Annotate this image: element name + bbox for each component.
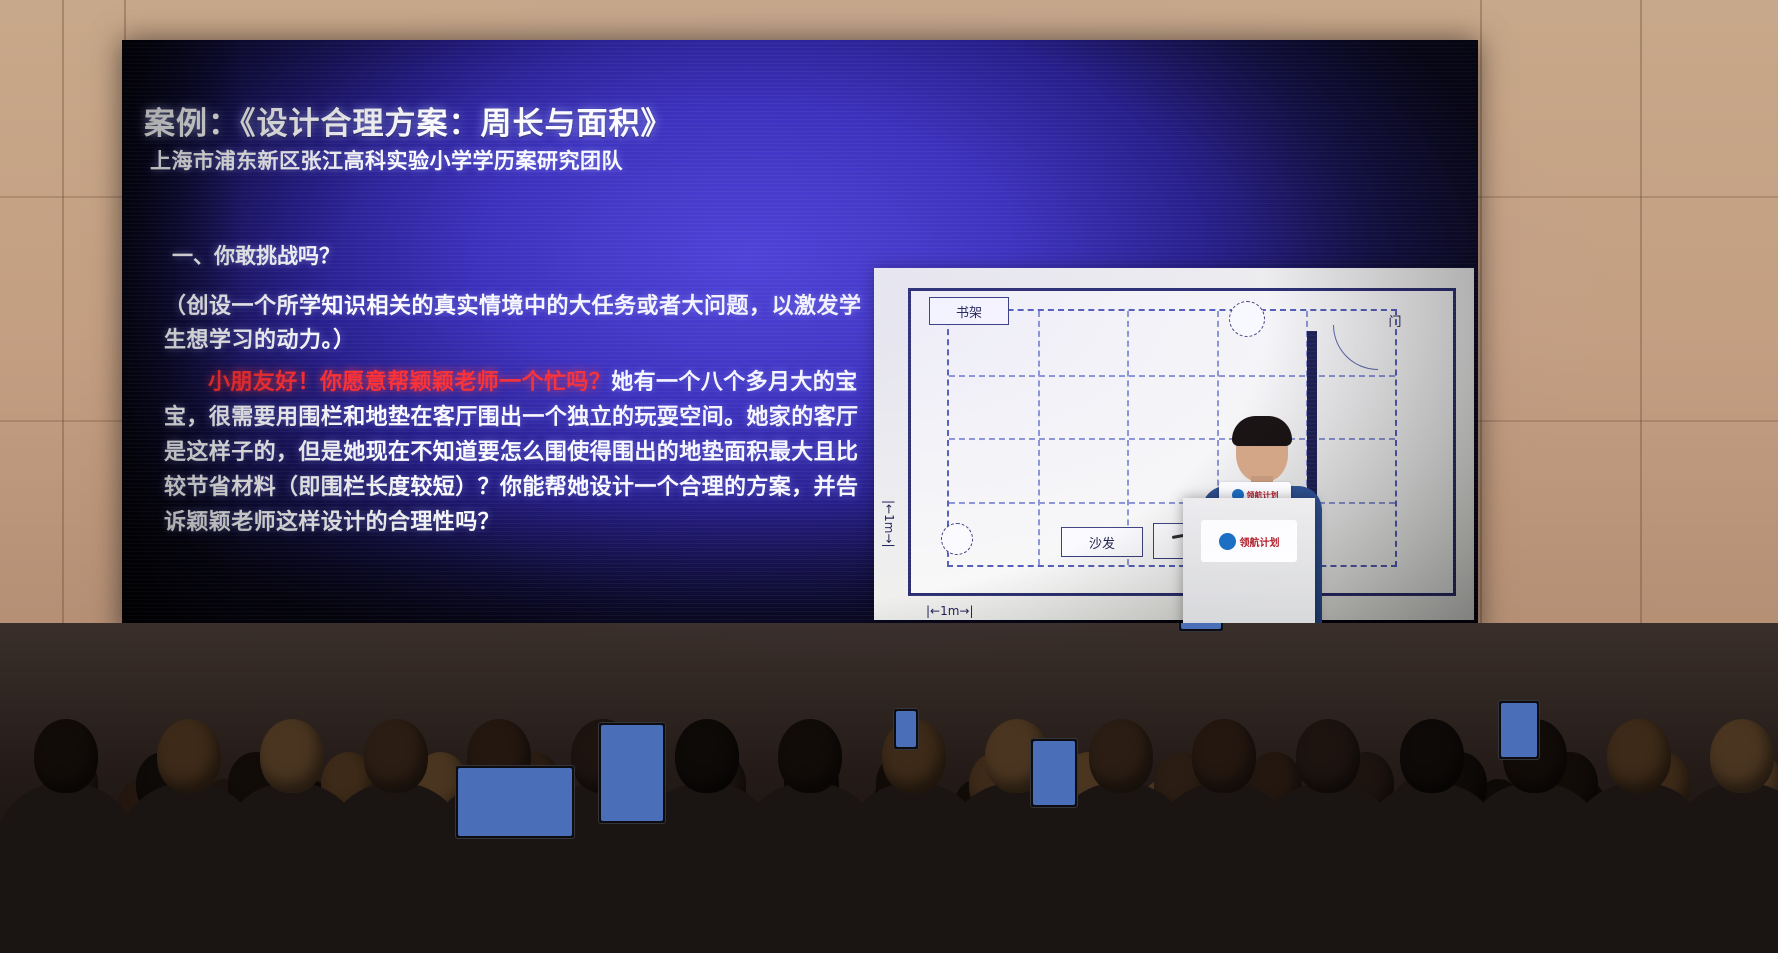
audience-head: [675, 719, 739, 793]
audience-head: [157, 719, 221, 793]
audience-head: [778, 719, 842, 793]
audience-foreground: [0, 623, 1778, 953]
speaker-hair: [1232, 416, 1292, 446]
audience-head: [1089, 719, 1153, 793]
audience-head: [364, 719, 428, 793]
audience-phone: [598, 722, 666, 824]
audience-head: [1710, 719, 1774, 793]
audience-body: [1667, 783, 1778, 953]
audience-phone: [893, 708, 919, 750]
audience-head: [1400, 719, 1464, 793]
phone-screen: [1181, 623, 1221, 629]
phone-screen: [1501, 703, 1537, 757]
phone-screen: [601, 725, 663, 821]
audience-phone: [1498, 700, 1540, 760]
conference-photo: 案例：《设计合理方案：周长与面积》 上海市浦东新区张江高科实验小学学历案研究团队…: [0, 0, 1778, 953]
audience-head: [1296, 719, 1360, 793]
phone-screen: [1033, 741, 1075, 805]
audience-head: [34, 719, 98, 793]
audience-phone: [1030, 738, 1078, 808]
podium-brand-label: 领航计划: [1240, 534, 1280, 549]
phone-screen: [458, 768, 572, 836]
phone-screen: [896, 711, 916, 747]
podium-logo: 领航计划: [1201, 520, 1297, 562]
audience-head: [1607, 719, 1671, 793]
audience-phone: [1178, 623, 1224, 632]
audience-head: [260, 719, 324, 793]
podium-logo-icon: [1219, 533, 1236, 550]
audience-member: [1667, 709, 1778, 953]
audience-head: [1192, 719, 1256, 793]
audience-phone: [455, 765, 575, 839]
